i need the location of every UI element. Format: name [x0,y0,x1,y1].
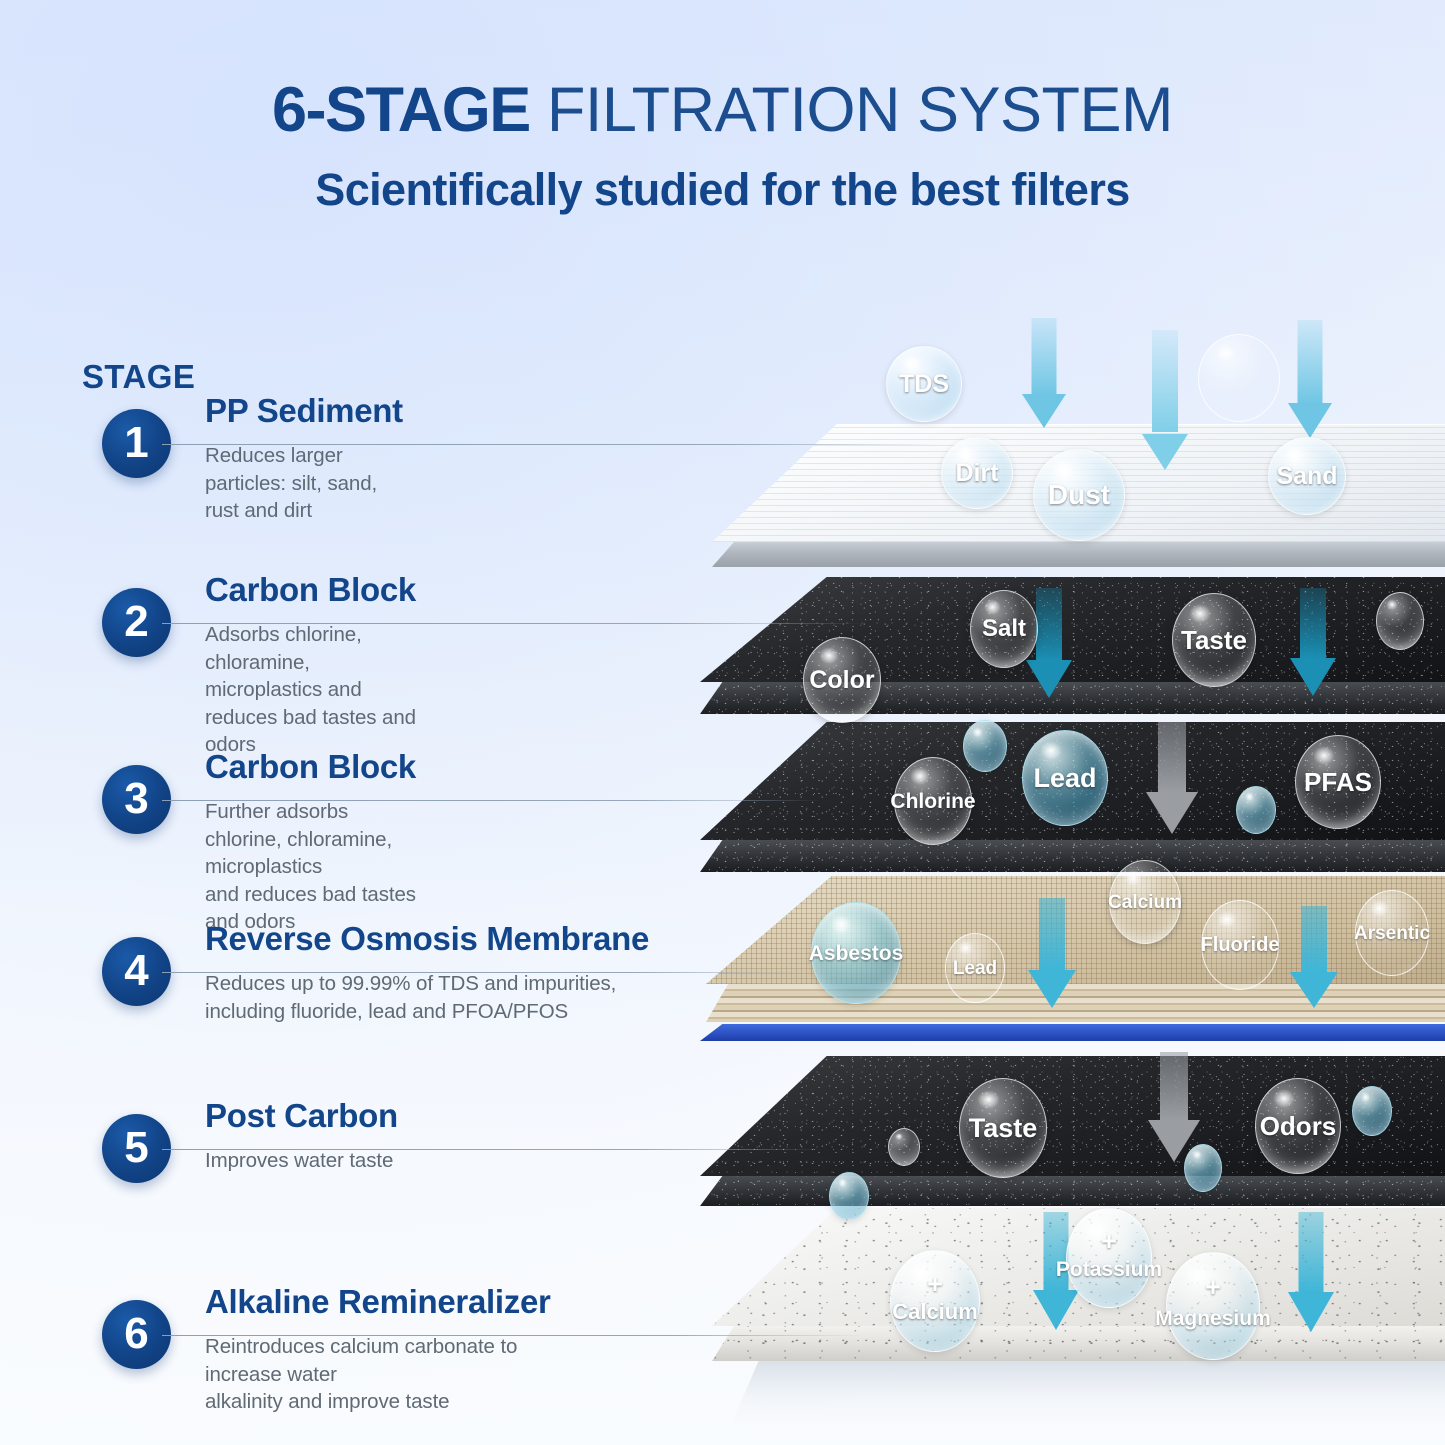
decorative-bubble-3 [963,720,1007,772]
decorative-bubble-6 [888,1128,920,1166]
stage-description: Reduces larger particles: silt, sand, ru… [205,442,403,524]
contaminant-bubble-taste-2: Taste [1172,593,1256,687]
header: 6-STAGE FILTRATION SYSTEM Scientifically… [0,78,1445,216]
contaminant-bubble-lead-4: Lead [945,933,1005,1003]
bubble-label: Calcium [892,1301,978,1323]
stage-text-6: Alkaline Remineralizer Reintroduces calc… [205,1284,551,1416]
stage-description: Improves water taste [205,1147,398,1174]
plus-icon: + [1205,1272,1221,1303]
contaminant-bubble-fluoride: Fluoride [1201,900,1279,990]
bubble-label: Sand [1276,464,1337,489]
flow-arrow-cyan-2 [1142,330,1188,470]
stage-text-5: Post Carbon Improves water taste [205,1098,398,1175]
stage-badge-2: 2 [102,588,171,657]
contaminant-bubble-odors: Odors [1255,1078,1341,1174]
stage-description: Adsorbs chlorine, chloramine, microplast… [205,621,416,758]
stage-leader-line-4 [162,972,812,973]
bubble-label: Magnesium [1155,1308,1271,1329]
bubble-label: TDS [899,372,949,397]
title-bold-part: 6-STAGE [272,75,530,145]
stage-leader-line-3 [162,800,822,801]
stage-number: 4 [124,949,148,993]
stage-title: PP Sediment [205,393,403,429]
pp-sediment-edge [712,542,1445,567]
decorative-bubble-1 [1198,334,1280,422]
stage-leader-line-5 [162,1149,822,1150]
contaminant-bubble-arsentic: Arsentic [1355,890,1429,976]
contaminant-bubble-sand: Sand [1268,437,1346,515]
stage-column-heading: STAGE [82,358,195,396]
stage-badge-5: 5 [102,1114,171,1183]
stage-description: Reintroduces calcium carbonate to increa… [205,1333,551,1415]
contaminant-bubble-taste-5: Taste [959,1078,1047,1178]
stage-text-2: Carbon Block Adsorbs chlorine, chloramin… [205,572,416,759]
flow-arrow-cyan-7 [1288,1212,1334,1332]
flow-arrow-cyan-1 [1022,318,1066,428]
plus-icon: + [927,1269,943,1300]
decorative-bubble-7 [1184,1144,1222,1192]
bubble-label: Salt [982,617,1026,641]
stage-text-1: PP Sediment Reduces larger particles: si… [205,393,403,525]
flow-arrow-cyan-5 [1290,906,1338,1008]
pp-sediment-side-face [712,542,1445,567]
mineral-bubble-magnesium: + Magnesium [1166,1252,1260,1360]
bubble-label: Taste [969,1115,1038,1142]
stage-title: Carbon Block [205,572,416,608]
filtration-infographic: 6-STAGE FILTRATION SYSTEM Scientifically… [0,0,1445,1445]
carbon-2-edge-speckle [700,840,1445,872]
contaminant-bubble-dust: Dust [1033,449,1125,541]
plus-icon: + [1101,1226,1117,1257]
stack-ground-shadow [730,1361,1445,1427]
bubble-label: Fluoride [1201,935,1280,955]
stage-number: 3 [124,777,148,821]
bubble-label: PFAS [1304,769,1372,795]
stage-title: Carbon Block [205,749,416,785]
bubble-label: Chlorine [890,791,975,812]
contaminant-bubble-lead-3: Lead [1022,730,1108,826]
mineral-bubble-potassium: + Potassium [1066,1208,1152,1308]
stage-number: 1 [124,421,148,465]
stage-badge-3: 3 [102,765,171,834]
stage-title: Post Carbon [205,1098,398,1134]
bubble-label: Color [809,668,874,693]
mineral-bubble-calcium: + Calcium [890,1250,980,1352]
bubble-label: Asbestos [809,943,904,964]
bubble-label: Dust [1048,481,1110,509]
contaminant-bubble-tds: TDS [886,346,962,422]
decorative-bubble-5 [829,1172,869,1220]
stage-title: Reverse Osmosis Membrane [205,921,649,957]
page-title: 6-STAGE FILTRATION SYSTEM [0,78,1445,144]
bubble-label: Odors [1260,1113,1337,1139]
decorative-bubble-2 [1376,592,1424,650]
stage-description: Reduces up to 99.99% of TDS and impuriti… [205,970,649,1025]
post-carbon-side-face [700,1176,1445,1206]
carbon-block-edge-2 [700,840,1445,872]
stage-leader-line-6 [162,1335,867,1336]
post-carbon-edge-speckle [700,1176,1445,1206]
contaminant-bubble-pfas: PFAS [1295,735,1381,829]
contaminant-bubble-color: Color [803,637,881,723]
flow-arrow-grey-1 [1146,722,1198,834]
bubble-label: Potassium [1056,1259,1162,1280]
stage-leader-line-2 [162,623,862,624]
stage-number: 2 [124,600,148,644]
title-rest-part: FILTRATION SYSTEM [530,75,1173,145]
flow-arrow-cyan-4 [1028,898,1076,1008]
stage-number: 5 [124,1126,148,1170]
bubble-label: Arsentic [1354,924,1430,943]
bubble-label: Lead [1033,765,1096,792]
stage-badge-1: 1 [102,409,171,478]
contaminant-bubble-salt: Salt [970,590,1038,668]
decorative-bubble-8 [1352,1086,1392,1136]
stage-description: Further adsorbs chlorine, chloramine, mi… [205,798,416,935]
alkaline-side-face [712,1326,1445,1361]
carbon-2-side-face [700,840,1445,872]
flow-arrow-grey-2 [1148,1052,1200,1162]
stage-text-3: Carbon Block Further adsorbs chlorine, c… [205,749,416,936]
decorative-bubble-4 [1236,786,1276,834]
alkaline-edge-speckle [712,1326,1445,1361]
stage-title: Alkaline Remineralizer [205,1284,551,1320]
ro-membrane-base-strip [700,1024,1445,1041]
flow-arrow-teal-2 [1290,588,1336,696]
stage-badge-6: 6 [102,1300,171,1369]
post-carbon-edge [700,1176,1445,1206]
bubble-label: Dirt [955,461,998,486]
stage-leader-line-1 [162,444,942,445]
stage-text-4: Reverse Osmosis Membrane Reduces up to 9… [205,921,649,1025]
contaminant-bubble-calcium-4: Calcium [1109,860,1181,944]
bubble-label: Calcium [1108,893,1182,912]
contaminant-bubble-chlorine: Chlorine [894,757,972,845]
alkaline-edge [712,1326,1445,1361]
stage-number: 6 [124,1312,148,1356]
stage-badge-4: 4 [102,937,171,1006]
bubble-label: Taste [1181,627,1247,653]
contaminant-bubble-asbestos: Asbestos [811,902,901,1004]
ro-blue-base [700,1024,1445,1041]
contaminant-bubble-dirt: Dirt [941,437,1013,509]
bubble-label: Lead [953,959,997,978]
page-subtitle: Scientifically studied for the best filt… [0,164,1445,216]
flow-arrow-cyan-3 [1288,320,1332,438]
